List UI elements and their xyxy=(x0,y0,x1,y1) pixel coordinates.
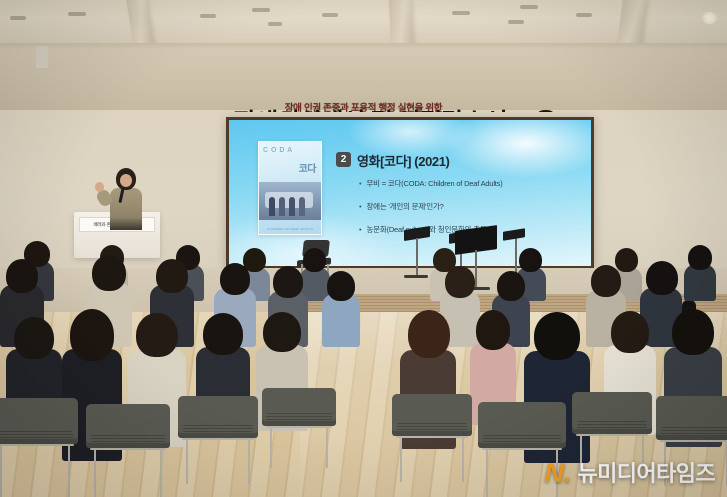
person-head xyxy=(273,266,303,298)
audience-chair xyxy=(392,394,472,482)
speaker-body xyxy=(110,188,142,230)
chair-rail xyxy=(182,438,254,440)
person-head xyxy=(203,313,243,355)
slide-number-badge: 2 xyxy=(336,152,351,167)
chair-back xyxy=(656,396,727,440)
chair-back xyxy=(392,394,472,436)
event-banner: 은평구청 장애 인권 존중과 포용적 행정 실현을 위한 2026. 장애인식개… xyxy=(0,49,727,112)
ceiling-vent xyxy=(520,5,538,9)
audience-chair xyxy=(0,398,78,497)
poster-vertical-title: C O D A xyxy=(263,148,293,155)
ceiling-beam xyxy=(389,0,413,46)
person-head xyxy=(591,265,621,297)
person-head xyxy=(263,312,301,352)
chair-leg xyxy=(186,438,188,484)
chair-ribs xyxy=(661,427,727,436)
chair-ribs xyxy=(0,431,73,440)
chair-ribs xyxy=(577,421,647,430)
person-head xyxy=(408,310,450,358)
speaker-face xyxy=(120,174,132,187)
ceiling xyxy=(0,0,727,46)
speaker-presenter xyxy=(104,168,148,228)
chair-back xyxy=(86,404,170,448)
person-head xyxy=(327,271,355,301)
ceiling-vent xyxy=(322,13,338,17)
ceiling-vent xyxy=(452,11,470,15)
person-head xyxy=(476,310,510,350)
poster-figure xyxy=(279,197,285,216)
ceiling-beam xyxy=(617,0,647,46)
chair-leg xyxy=(486,448,488,497)
poster-figure xyxy=(299,197,305,216)
chair-rail xyxy=(0,444,74,446)
person-head xyxy=(534,312,580,360)
chair-ribs xyxy=(266,413,331,422)
chair-back xyxy=(0,398,78,444)
chair-back xyxy=(178,396,258,438)
chair-leg xyxy=(462,436,464,482)
chair-leg xyxy=(68,444,70,497)
ceiling-vent xyxy=(252,8,270,12)
poster-figure xyxy=(289,197,295,216)
chair-rail xyxy=(576,434,648,436)
person-head xyxy=(611,311,649,353)
person-head xyxy=(672,309,714,355)
ceiling-vent xyxy=(268,22,282,26)
chair-leg xyxy=(248,438,250,484)
person-head xyxy=(156,259,188,293)
chair-leg xyxy=(0,444,2,497)
audience-chair xyxy=(178,396,258,484)
person-head xyxy=(220,263,250,295)
chair-ribs xyxy=(183,425,253,434)
slide-bullet: 무비 = 코다(CODA: Children of Deaf Adults) xyxy=(359,178,591,189)
ceiling-light-icon xyxy=(702,12,717,24)
audience-chair xyxy=(262,388,336,468)
seminar-photo: 은평구청 장애 인권 존중과 포용적 행정 실현을 위한 2026. 장애인식개… xyxy=(0,0,727,497)
chair-rail xyxy=(396,436,468,438)
chair-rail xyxy=(482,448,562,450)
chair-back xyxy=(478,402,566,448)
chair-back xyxy=(262,388,336,426)
chair-rail xyxy=(90,448,166,450)
audience-chair xyxy=(86,404,170,497)
slide-heading: 영화[코다] (2021) xyxy=(357,151,450,170)
person-head xyxy=(646,261,678,295)
chair-ribs xyxy=(483,435,560,444)
chair-leg xyxy=(326,426,328,468)
person-head xyxy=(14,317,54,359)
eunpyeong-leaf-logo-icon: 은평구청 xyxy=(120,111,178,112)
person-head xyxy=(136,313,178,357)
person-body xyxy=(322,294,360,347)
watermark: N. 뉴미디어타임즈 xyxy=(545,460,715,487)
poster-figure xyxy=(269,197,275,216)
speaker-hand xyxy=(95,182,104,192)
podium-stem xyxy=(36,46,48,68)
ceiling-vent xyxy=(576,13,592,17)
movie-poster: C O D A 코다 CHILDREN OF DEAF ADULTS xyxy=(258,141,322,235)
chair-rail xyxy=(660,440,727,442)
poster-korean-title: 코다 xyxy=(299,160,316,175)
person-head xyxy=(445,266,475,298)
person-head xyxy=(497,271,525,301)
chair-back xyxy=(572,392,652,434)
watermark-text: 뉴미디어타임즈 xyxy=(578,463,715,485)
ceiling-vent xyxy=(200,14,216,18)
ceiling-vent xyxy=(508,20,524,24)
banner-title: 2026. 장애인식개선 및 인권감수성 교육 xyxy=(0,111,727,112)
chair-rail xyxy=(266,426,332,428)
person-head xyxy=(70,309,114,361)
person-head xyxy=(92,255,126,291)
person-head xyxy=(688,245,712,270)
slide-bullet: 장애는 '개인의 문제'인가? xyxy=(359,201,591,212)
newmedia-times-logo-icon: N. xyxy=(545,460,572,487)
poster-photo xyxy=(259,182,321,220)
audience xyxy=(0,228,727,497)
chair-leg xyxy=(270,426,272,468)
chair-ribs xyxy=(91,435,165,444)
chair-ribs xyxy=(397,423,467,432)
ceiling-vent xyxy=(68,12,86,16)
ceiling-beam xyxy=(126,0,153,46)
chair-leg xyxy=(94,448,96,497)
chair-leg xyxy=(160,448,162,497)
person-head xyxy=(6,259,38,293)
audience-person xyxy=(322,267,360,347)
audience-person xyxy=(684,243,716,301)
chair-leg xyxy=(400,436,402,482)
ceiling-vent xyxy=(10,16,26,20)
